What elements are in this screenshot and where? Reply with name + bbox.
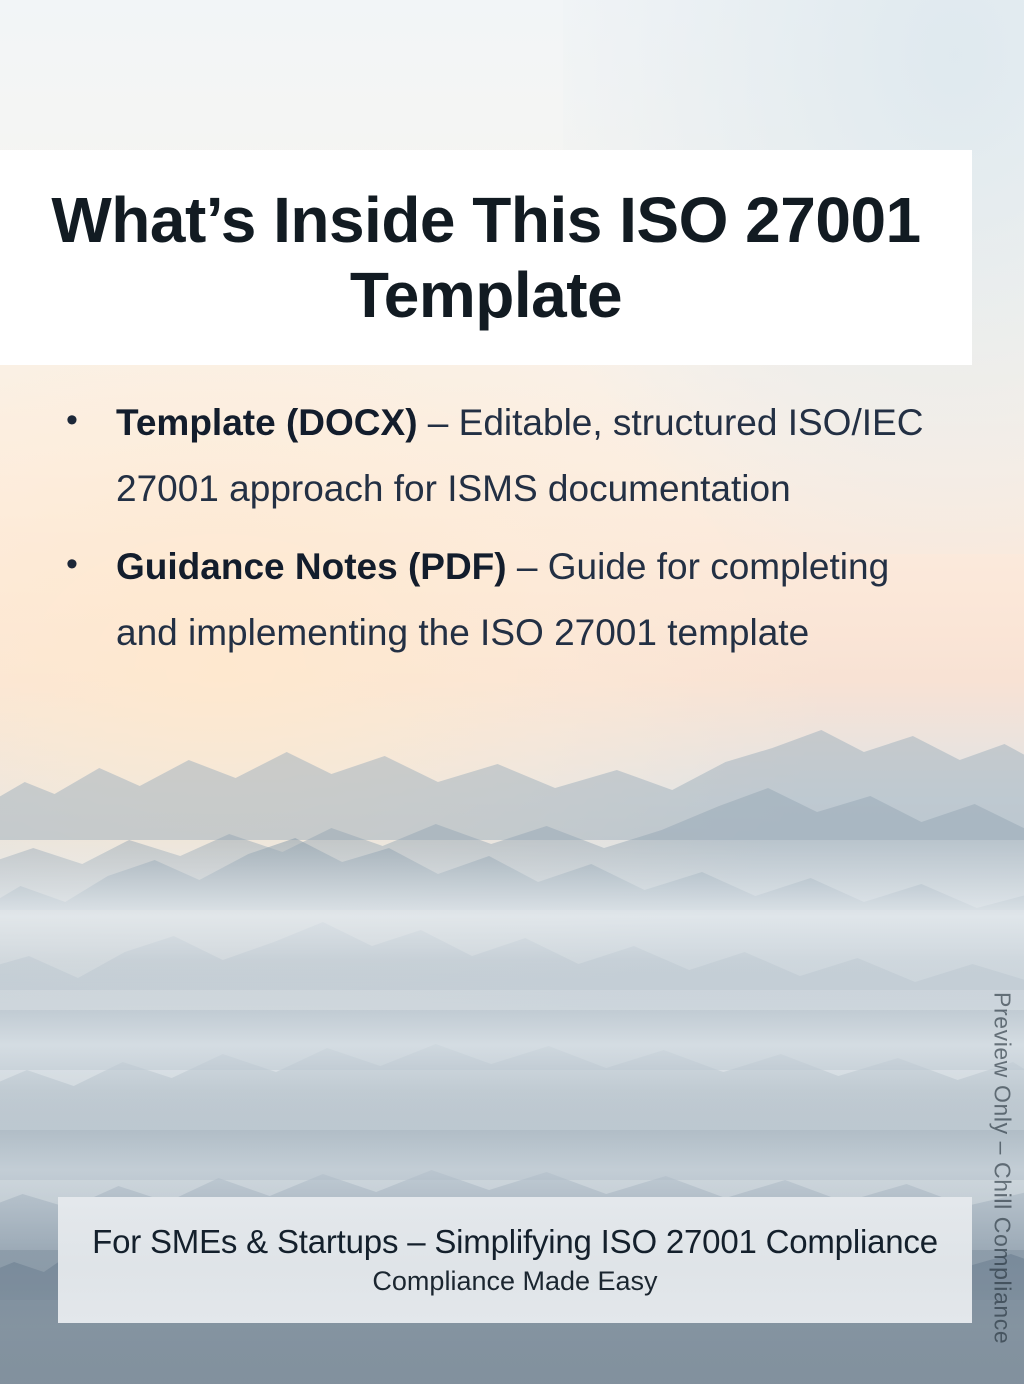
footer-box: For SMEs & Startups – Simplifying ISO 27…: [58, 1197, 972, 1323]
watermark-label: Preview Only – Chill Compliance: [989, 992, 1016, 1344]
slide-canvas: What’s Inside This ISO 27001 Template • …: [0, 0, 1024, 1384]
footer-tagline: For SMEs & Startups – Simplifying ISO 27…: [92, 1222, 938, 1263]
slide-title: What’s Inside This ISO 27001 Template: [46, 183, 926, 331]
bullet-lead-label: Template (DOCX): [116, 402, 418, 443]
preview-watermark: Preview Only – Chill Compliance: [982, 992, 1022, 1332]
title-band: What’s Inside This ISO 27001 Template: [0, 150, 972, 365]
bullet-list: • Template (DOCX) – Editable, structured…: [58, 390, 938, 677]
footer-subtitle: Compliance Made Easy: [372, 1265, 657, 1298]
list-item: • Template (DOCX) – Editable, structured…: [58, 390, 938, 522]
bullet-marker-icon: •: [66, 534, 78, 595]
list-item: • Guidance Notes (PDF) – Guide for compl…: [58, 534, 938, 666]
bullet-lead-label: Guidance Notes (PDF): [116, 546, 507, 587]
bullet-marker-icon: •: [66, 390, 78, 451]
